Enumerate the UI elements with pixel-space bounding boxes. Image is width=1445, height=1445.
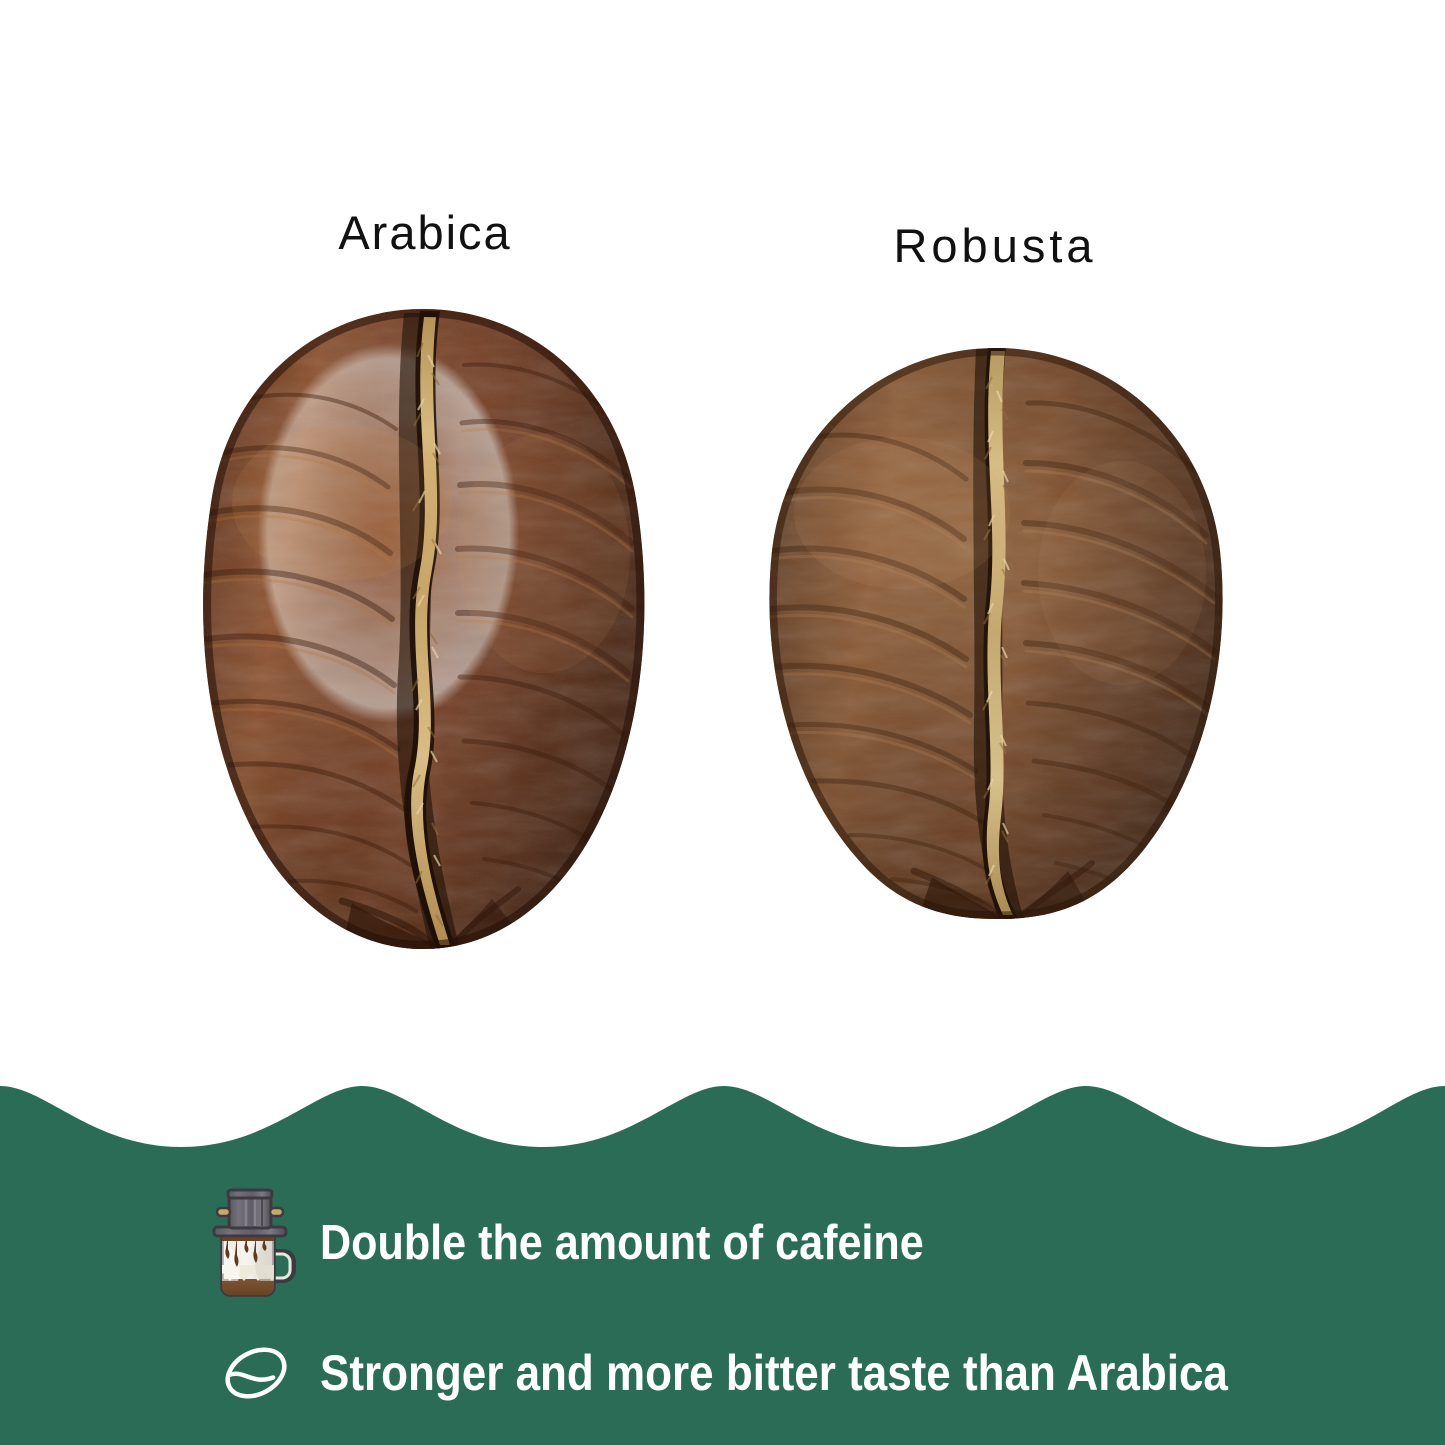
coffee-bean-outline-icon [200, 1330, 312, 1416]
vietnamese-phin-filter-icon [200, 1185, 312, 1303]
feature-label-taste: Stronger and more bitter taste than Arab… [320, 1347, 1228, 1400]
feature-row-taste: Stronger and more bitter taste than Arab… [200, 1330, 1352, 1416]
bean-label-robusta: Robusta [570, 218, 1420, 273]
poster-canvas: Arabica Robusta [0, 0, 1445, 1445]
robusta-bean-graphic [762, 343, 1230, 923]
feature-label-caffeine: Double the amount of cafeine [320, 1218, 924, 1269]
arabica-bean-graphic [192, 303, 654, 953]
feature-row-caffeine: Double the amount of cafeine [200, 1185, 1006, 1303]
coffee-bean-robusta [762, 343, 1230, 923]
coffee-bean-arabica [192, 303, 654, 953]
